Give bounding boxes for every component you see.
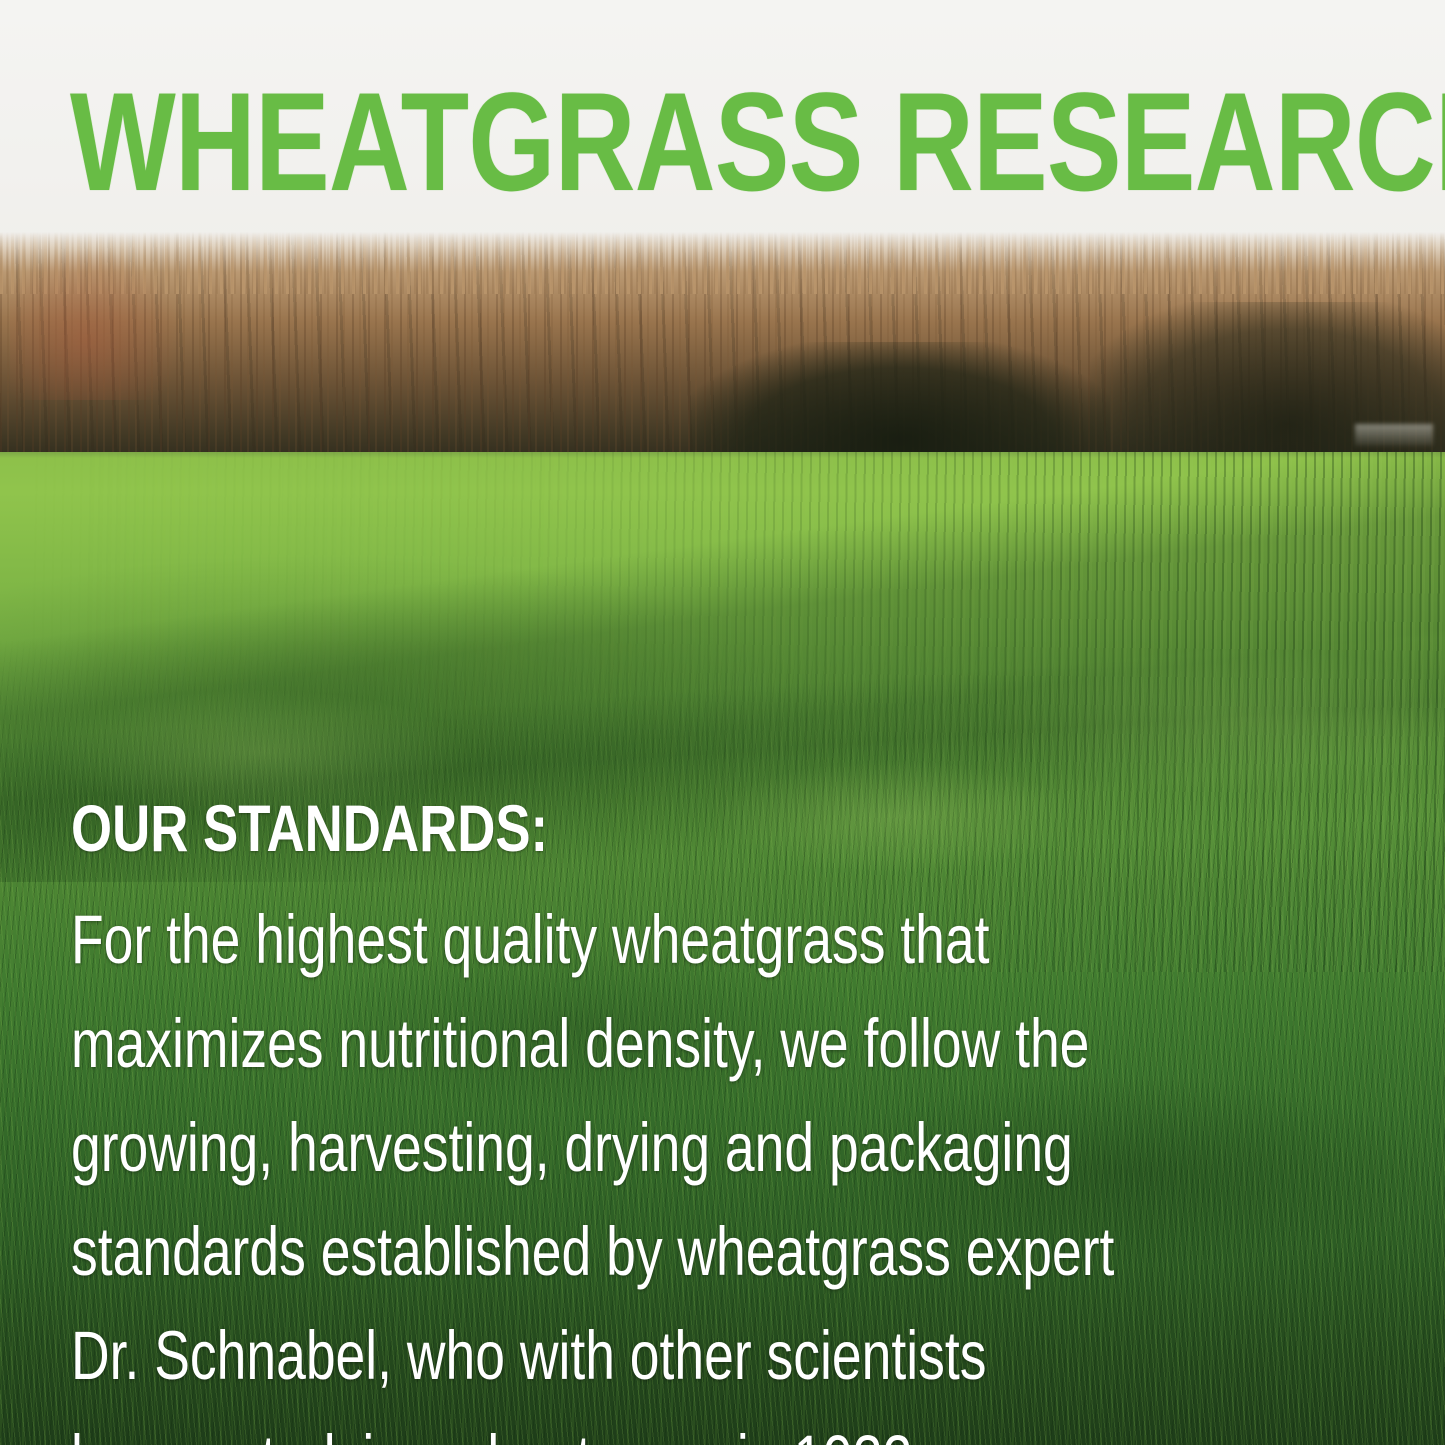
body-line: maximizes nutritional density, we follow… xyxy=(71,992,1435,1096)
wheatgrass-research-poster: WHEATGRASS RESEARCH OUR STANDARDS: For t… xyxy=(0,0,1445,1445)
treeline-background xyxy=(0,232,1445,472)
body-line: growing, harvesting, drying and packagin… xyxy=(71,1096,1435,1200)
section-heading-our-standards: OUR STANDARDS: xyxy=(71,795,548,861)
distant-building xyxy=(1355,424,1433,446)
body-line: began studying wheatgrass in 1932. xyxy=(71,1408,1435,1445)
body-line: For the highest quality wheatgrass that xyxy=(71,888,1435,992)
tree-canopy-top-edge xyxy=(0,232,1445,294)
page-title: WHEATGRASS RESEARCH xyxy=(70,72,1445,212)
body-line: standards established by wheatgrass expe… xyxy=(71,1200,1435,1304)
body-line: Dr. Schnabel, who with other scientists xyxy=(71,1304,1435,1408)
body-paragraph: For the highest quality wheatgrass that … xyxy=(71,888,1435,1445)
red-autumn-tree-cluster xyxy=(10,250,180,400)
dark-evergreen-cluster-right xyxy=(1090,302,1445,472)
